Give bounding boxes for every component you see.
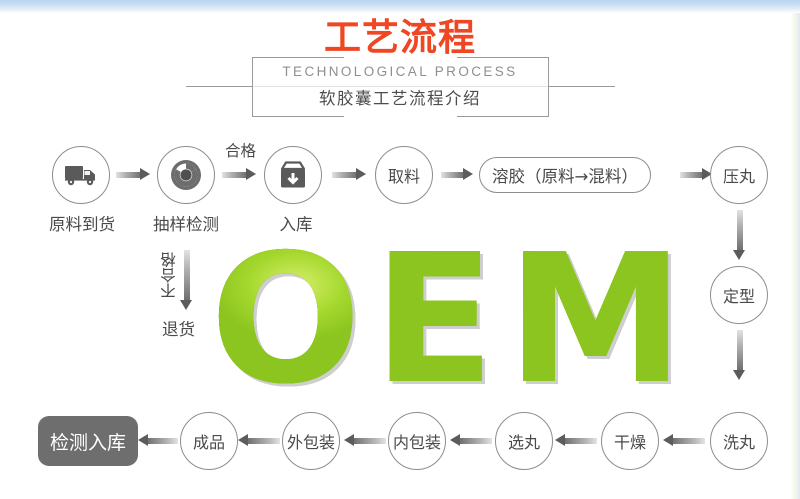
edge-label-pass: 合格 bbox=[225, 139, 256, 161]
process-flow-infographic: 工艺流程 TECHNOLOGICAL PROCESS 软胶囊工艺流程介绍 OEM… bbox=[0, 0, 800, 499]
node-pill-selection[interactable]: 选丸 bbox=[495, 412, 553, 470]
node-material-pickup[interactable]: 取料 bbox=[375, 146, 433, 204]
node-finished-product[interactable]: 成品 bbox=[180, 412, 238, 470]
arrow-inner-to-outer-packaging bbox=[344, 434, 386, 447]
arrow-drying-to-selection bbox=[555, 434, 597, 447]
inbox-down-icon bbox=[277, 160, 309, 190]
arrow-reject-branch bbox=[180, 250, 193, 310]
edge-label-fail: 不合格 bbox=[158, 252, 180, 299]
arrow-outer-packaging-to-finished bbox=[238, 434, 280, 447]
page-subtitle-chinese: 软胶囊工艺流程介绍 bbox=[235, 86, 565, 112]
node-raw-material-arrival[interactable] bbox=[52, 146, 110, 204]
arrow-warehousing-to-pickup bbox=[332, 168, 366, 181]
page-title: 工艺流程 bbox=[235, 16, 565, 60]
inspection-icon bbox=[169, 158, 203, 192]
header: 工艺流程 TECHNOLOGICAL PROCESS 软胶囊工艺流程介绍 bbox=[0, 16, 800, 116]
arrow-solgel-to-pressing bbox=[680, 168, 712, 181]
node-outer-packaging[interactable]: 外包装 bbox=[282, 412, 340, 470]
oem-watermark: OEM bbox=[210, 232, 690, 407]
arrow-inspection-to-warehousing bbox=[222, 168, 256, 181]
node-pill-washing[interactable]: 洗丸 bbox=[710, 412, 768, 470]
top-gradient-strip bbox=[0, 0, 800, 13]
arrow-arrival-to-inspection bbox=[116, 168, 150, 181]
caption-sampling-inspection: 抽样检测 bbox=[136, 211, 236, 235]
caption-raw-material-arrival: 原料到货 bbox=[32, 211, 132, 235]
arrow-pressing-to-shaping bbox=[733, 210, 746, 260]
page-subtitle-english: TECHNOLOGICAL PROCESS bbox=[235, 62, 565, 82]
truck-icon bbox=[64, 164, 98, 186]
arrow-shaping-to-washing bbox=[733, 330, 746, 380]
node-return-goods: 退货 bbox=[162, 316, 195, 340]
arrow-finished-to-inspection-warehousing bbox=[138, 434, 178, 447]
node-drying[interactable]: 干燥 bbox=[601, 412, 659, 470]
node-warehousing[interactable] bbox=[264, 146, 322, 204]
node-inspection-warehousing[interactable]: 检测入库 bbox=[38, 416, 138, 466]
node-shaping[interactable]: 定型 bbox=[710, 266, 768, 324]
header-bracket-left-bottom bbox=[252, 116, 344, 117]
arrow-washing-to-drying bbox=[663, 434, 705, 447]
node-sampling-inspection[interactable] bbox=[157, 146, 215, 204]
node-sol-gel[interactable]: 溶胶（原料→混料） bbox=[479, 157, 651, 193]
arrow-pickup-to-solgel bbox=[441, 168, 473, 181]
node-pill-pressing[interactable]: 压丸 bbox=[710, 146, 768, 204]
caption-warehousing: 入库 bbox=[248, 211, 344, 235]
node-inner-packaging[interactable]: 内包装 bbox=[388, 412, 446, 470]
header-bracket-right-bottom bbox=[457, 116, 549, 117]
arrow-selection-to-inner-packaging bbox=[450, 434, 492, 447]
